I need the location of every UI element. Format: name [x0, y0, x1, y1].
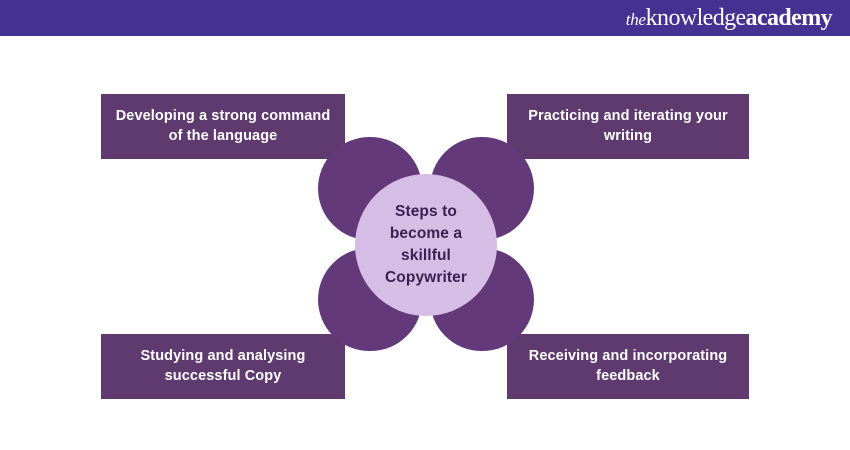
diagram-stage: Developing a strong command of the langu… [0, 39, 850, 450]
brand-logo-knowledge: knowledge [646, 6, 746, 30]
brand-logo: theknowledgeacademy [626, 6, 832, 30]
label-box-bottom-right: Receiving and incorporating feedback [507, 334, 749, 399]
label-box-top-right: Practicing and iterating your writing [507, 94, 749, 159]
center-circle: Steps to become a skillful Copywriter [355, 174, 497, 316]
brand-logo-academy: academy [746, 6, 832, 30]
header-bar: theknowledgeacademy [0, 0, 850, 36]
label-box-top-left: Developing a strong command of the langu… [101, 94, 345, 159]
brand-logo-the: the [626, 11, 646, 28]
label-box-bottom-left: Studying and analysing successful Copy [101, 334, 345, 399]
center-circle-title: Steps to become a skillful Copywriter [385, 201, 467, 289]
